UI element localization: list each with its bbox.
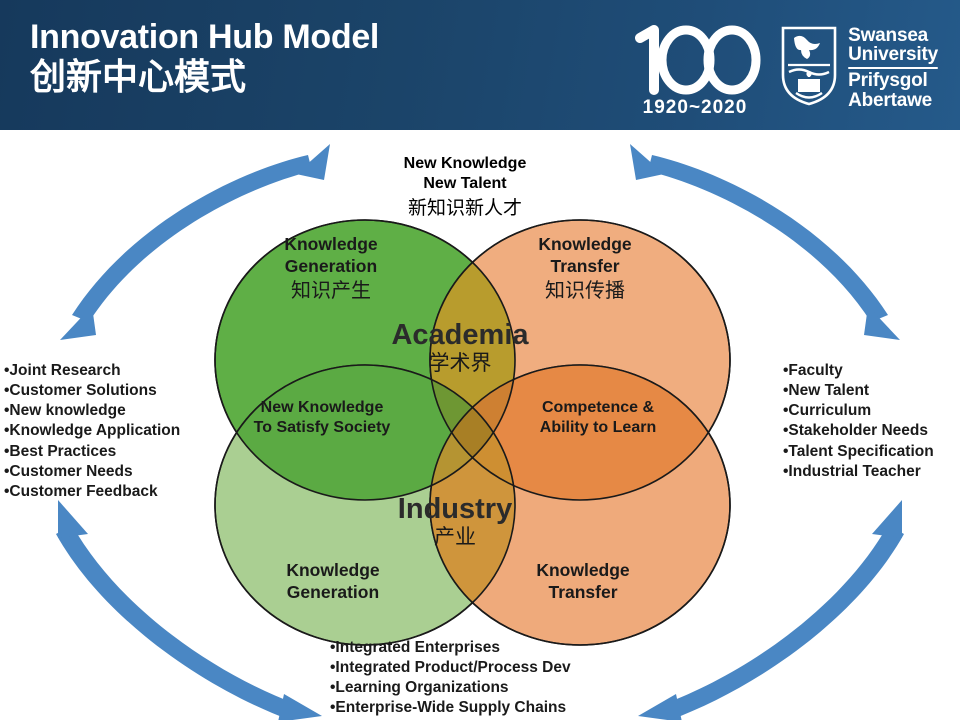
list-item: •Customer Solutions [4,381,180,401]
list-item: •New Talent [783,381,934,401]
list-item: •Talent Specification [783,442,934,462]
list-item: •Knowledge Application [4,421,180,441]
label-line2: To Satisfy Society [202,418,442,438]
label-academia: Academia 学术界 [325,320,595,377]
list-item: •Joint Research [4,361,180,381]
label-knowledge-transfer-bottom: Knowledge Transfer [468,560,698,603]
swansea-crest-icon [780,25,838,112]
innovation-hub-diagram: New Knowledge New Talent 新知识新人才 •Joint R… [0,130,960,720]
label-zh: 知识传播 [470,277,700,303]
label-industry-zh: 产业 [330,524,580,550]
list-item: •Integrated Product/Process Dev [330,658,571,678]
label-knowledge-generation-bottom: Knowledge Generation [218,560,448,603]
logo-divider [848,67,938,69]
label-industry: Industry 产业 [330,494,580,551]
page-title: Innovation Hub Model 创新中心模式 [30,20,379,98]
swansea-logo: 1920~2020 Swansea Univers [620,16,938,120]
list-item: •Customer Needs [4,462,180,482]
top-label-zh: 新知识新人才 [330,196,600,221]
list-item: •Curriculum [783,401,934,421]
centenary-100-icon: 1920~2020 [620,18,770,118]
centenary-years: 1920~2020 [643,97,748,118]
list-item: •Customer Feedback [4,482,180,502]
logo-name-line3: Prifysgol [848,71,938,91]
label-line1: Knowledge [468,560,698,582]
label-line1: Knowledge [218,560,448,582]
slide-root: Innovation Hub Model 创新中心模式 1920~2020 [0,0,960,720]
logo-name-line4: Abertawe [848,91,938,111]
label-line2: Transfer [468,582,698,604]
label-zh: 知识产生 [216,277,446,303]
left-bullet-list: •Joint Research •Customer Solutions •New… [4,361,180,502]
label-line2: Ability to Learn [478,418,718,438]
slide-header: Innovation Hub Model 创新中心模式 1920~2020 [0,0,960,130]
label-industry-en: Industry [330,494,580,524]
swansea-wordmark: Swansea University Prifysgol Abertawe [848,26,938,110]
list-item: •New knowledge [4,401,180,421]
label-line2: Transfer [470,256,700,278]
label-new-knowledge-society: New Knowledge To Satisfy Society [202,398,442,438]
label-academia-zh: 学术界 [325,350,595,376]
list-item: •Industrial Teacher [783,462,934,482]
top-label-line1: New Knowledge [330,154,600,174]
page-title-en: Innovation Hub Model [30,20,379,56]
top-output-label: New Knowledge New Talent 新知识新人才 [330,154,600,221]
bottom-bullet-list: •Integrated Enterprises •Integrated Prod… [330,638,571,719]
label-knowledge-transfer-top: Knowledge Transfer 知识传播 [470,234,700,303]
right-bullet-list: •Faculty •New Talent •Curriculum •Stakeh… [783,361,934,482]
list-item: •Enterprise-Wide Supply Chains [330,698,571,718]
label-line2: Generation [216,256,446,278]
list-item: •Integrated Enterprises [330,638,571,658]
label-line2: Generation [218,582,448,604]
list-item: •Faculty [783,361,934,381]
label-line1: New Knowledge [202,398,442,418]
label-knowledge-generation-top: Knowledge Generation 知识产生 [216,234,446,303]
label-line1: Knowledge [216,234,446,256]
label-academia-en: Academia [325,320,595,350]
list-item: •Best Practices [4,442,180,462]
top-label-line2: New Talent [330,174,600,194]
label-line1: Knowledge [470,234,700,256]
label-competence-ability: Competence & Ability to Learn [478,398,718,438]
page-title-zh: 创新中心模式 [30,58,379,98]
logo-name-line2: University [848,45,938,65]
list-item: •Learning Organizations [330,678,571,698]
list-item: •Stakeholder Needs [783,421,934,441]
label-line1: Competence & [478,398,718,418]
logo-name-line1: Swansea [848,26,938,46]
